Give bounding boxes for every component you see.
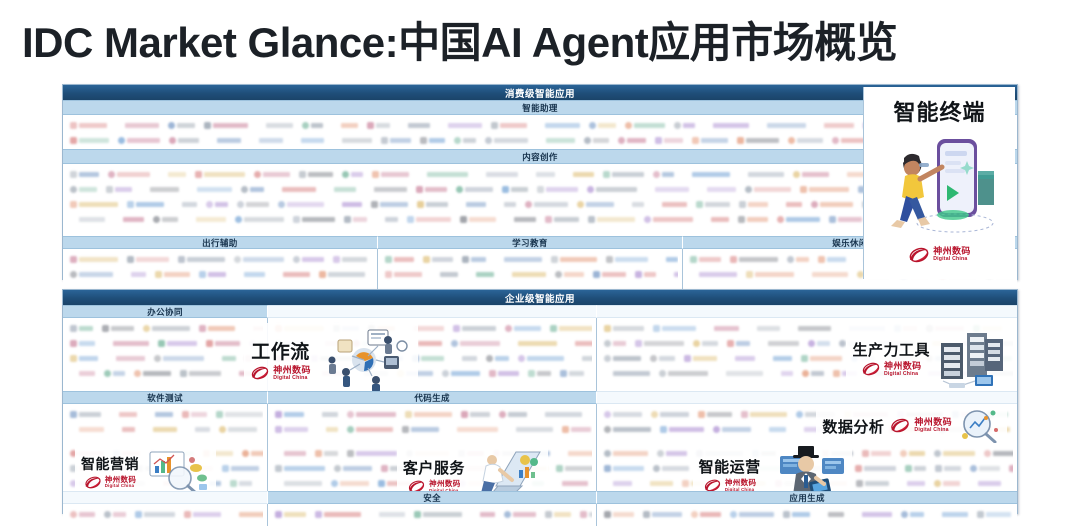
vendor-logo xyxy=(764,355,792,362)
vendor-logo xyxy=(803,271,848,278)
vendor-logo xyxy=(108,171,150,178)
digital-china-swoosh-icon xyxy=(84,476,102,489)
enterprise-section-panel: 企业级智能应用 办公协同 xyxy=(62,289,1018,514)
vendor-logo xyxy=(777,201,802,208)
vendor-logo xyxy=(467,271,494,278)
vendor-logo xyxy=(604,480,632,487)
callout-card-data-analysis[interactable]: 数据分析 神州数码 Digital China xyxy=(816,405,1007,443)
vendor-logo xyxy=(505,325,541,332)
brand-name-cn: 神州数码 xyxy=(273,366,311,375)
brand-name-en: Digital China xyxy=(914,428,952,433)
vendor-logo xyxy=(696,201,730,208)
vendor-logo xyxy=(829,216,862,223)
vendor-logo xyxy=(690,271,737,278)
vendor-logo xyxy=(665,271,678,278)
vendor-logo xyxy=(317,426,338,433)
vendor-logo xyxy=(657,256,678,263)
vendor-logo xyxy=(70,186,97,193)
vendor-logo xyxy=(402,426,439,433)
vendor-logo xyxy=(278,201,324,208)
callout-title-data-analysis: 数据分析 xyxy=(822,416,884,437)
vendor-logo xyxy=(777,216,820,223)
vendor-logo xyxy=(274,271,310,278)
vendor-logo xyxy=(188,186,232,193)
vendor-logo xyxy=(381,137,411,144)
category-label-security: 安全 xyxy=(268,491,597,504)
logo-strip-enterprise-3: 智能营销 神州数码 Digital China xyxy=(63,443,1017,491)
vendor-logo xyxy=(527,171,555,178)
vendor-logo xyxy=(550,325,592,332)
vendor-logo xyxy=(344,216,367,223)
vendor-logo xyxy=(367,122,390,129)
vendor-logo xyxy=(293,256,324,263)
vendor-logo xyxy=(604,355,641,362)
vendor-logo xyxy=(461,411,490,418)
vendor-logo xyxy=(545,511,571,518)
logo-line xyxy=(67,267,373,282)
vendor-logo xyxy=(660,426,704,433)
vendor-logo xyxy=(347,450,397,457)
category-label-travel-assist: 出行辅助 xyxy=(63,236,378,249)
vendor-logo xyxy=(499,411,527,418)
logo-column xyxy=(597,504,1017,526)
digital-china-swoosh-icon xyxy=(703,479,722,491)
vendor-logo xyxy=(414,511,462,518)
vendor-logo xyxy=(70,511,95,518)
vendor-logo xyxy=(730,256,778,263)
vendor-logo xyxy=(644,216,693,223)
woman-with-phone-art xyxy=(875,127,1005,245)
vendor-logo xyxy=(625,122,665,129)
digital-china-swoosh-icon xyxy=(908,247,930,263)
vendor-logo xyxy=(371,201,408,208)
page-title: IDC Market Glance:中国AI Agent应用市场概览 xyxy=(22,18,897,68)
vendor-logo xyxy=(551,256,597,263)
vendor-logo xyxy=(646,186,689,193)
vendor-logo xyxy=(407,216,451,223)
logo-line xyxy=(67,507,263,522)
vendor-logo xyxy=(293,216,335,223)
vendor-logo xyxy=(102,325,134,332)
vendor-logo xyxy=(153,216,178,223)
vendor-logo xyxy=(653,171,674,178)
vendor-logo xyxy=(180,370,221,377)
vendor-logo xyxy=(635,340,684,347)
vendor-logo xyxy=(808,340,830,347)
vendor-logo xyxy=(70,426,104,433)
vendor-logo xyxy=(141,186,179,193)
logo-column xyxy=(63,404,268,443)
vendor-logo xyxy=(333,137,372,144)
vendor-logo xyxy=(788,137,823,144)
logo-line xyxy=(67,336,263,351)
vendor-logo xyxy=(898,480,925,487)
vendor-logo xyxy=(333,256,367,263)
vendor-logo xyxy=(315,511,361,518)
vendor-logo xyxy=(604,411,642,418)
vendor-logo xyxy=(507,426,553,433)
vendor-logo xyxy=(502,186,528,193)
vendor-logo xyxy=(70,325,93,332)
vendor-logo xyxy=(691,511,721,518)
brand-name-cn: 神州数码 xyxy=(429,480,461,488)
vendor-logo xyxy=(315,450,338,457)
vendor-logo xyxy=(659,370,708,377)
callout-title-smart-marketing: 智能营销 xyxy=(81,454,139,474)
vendor-logo xyxy=(643,511,682,518)
vendor-logo xyxy=(746,271,794,278)
vendor-logo xyxy=(104,340,149,347)
callout-card-smart-operations[interactable]: 智能运营 神州数码 Digital China xyxy=(693,443,852,491)
vendor-logo xyxy=(431,271,458,278)
logo-line xyxy=(382,252,678,267)
chart-magnifier-art xyxy=(144,448,210,491)
vendor-logo xyxy=(122,271,146,278)
callout-title-customer-service: 客户服务 xyxy=(403,457,465,478)
digital-china-logo: 神州数码 Digital China xyxy=(407,480,461,491)
vendor-logo xyxy=(70,340,95,347)
digital-china-logo: 神州数码 Digital China xyxy=(703,479,757,491)
vendor-logo xyxy=(154,355,204,362)
callout-title-workflow: 工作流 xyxy=(251,337,310,364)
vendor-logo xyxy=(593,271,626,278)
vendor-logo xyxy=(186,426,210,433)
logo-line xyxy=(272,407,592,422)
vendor-logo xyxy=(905,465,926,472)
vendor-logo xyxy=(106,186,132,193)
logo-line xyxy=(67,407,263,422)
section-header-enterprise: 企业级智能应用 xyxy=(63,290,1017,305)
vendor-logo xyxy=(107,355,145,362)
vendor-logo xyxy=(485,137,528,144)
vendor-logo xyxy=(250,137,283,144)
logo-column xyxy=(63,318,268,391)
vendor-logo xyxy=(562,426,591,433)
callout-card-smart-terminal[interactable]: 智能终端 xyxy=(863,87,1015,279)
vendor-logo xyxy=(969,480,1001,487)
vendor-logo xyxy=(759,340,799,347)
vendor-logo xyxy=(302,122,323,129)
vendor-logo xyxy=(650,355,675,362)
callout-card-smart-marketing[interactable]: 智能营销 神州数码 Digital China xyxy=(75,445,216,491)
brand-name-cn: 神州数码 xyxy=(725,479,757,487)
vendor-logo xyxy=(623,201,644,208)
vendor-logo xyxy=(518,355,564,362)
magnifier-chart-art xyxy=(957,408,1001,443)
vendor-logo xyxy=(385,271,422,278)
vendor-logo xyxy=(453,355,477,362)
vendor-logo xyxy=(674,122,695,129)
vendor-logo xyxy=(204,122,248,129)
logo-line xyxy=(67,351,263,366)
vendor-logo xyxy=(347,426,393,433)
logo-strip-enterprise-1: 工作流 神州数码 Digital China xyxy=(63,318,1017,391)
vendor-logo xyxy=(657,450,687,457)
vendor-logo xyxy=(213,355,236,362)
vendor-logo xyxy=(793,171,829,178)
vendor-logo xyxy=(235,271,265,278)
vendor-logo xyxy=(173,201,197,208)
vendor-logo xyxy=(815,122,854,129)
vendor-logo xyxy=(705,325,739,332)
vendor-logo xyxy=(489,370,519,377)
vendor-logo xyxy=(580,511,592,518)
vendor-logo xyxy=(155,271,190,278)
vendor-logo xyxy=(254,171,290,178)
person-laptop-art xyxy=(470,446,542,491)
vendor-logo xyxy=(206,340,240,347)
vendor-logo xyxy=(727,340,750,347)
vendor-logo xyxy=(222,465,259,472)
digital-china-logo: 神州数码 Digital China xyxy=(908,247,971,263)
logo-line xyxy=(67,422,263,437)
vendor-logo xyxy=(509,340,557,347)
digital-china-swoosh-icon xyxy=(889,418,911,433)
vendor-logo xyxy=(738,216,768,223)
vendor-logo xyxy=(70,370,95,377)
vendor-logo xyxy=(495,201,516,208)
vendor-logo xyxy=(347,411,396,418)
vendor-logo xyxy=(275,450,306,457)
vendor-logo xyxy=(257,122,293,129)
vendor-logo xyxy=(331,480,369,487)
vendor-logo xyxy=(853,511,892,518)
vendor-logo xyxy=(811,201,853,208)
vendor-logo xyxy=(158,340,197,347)
vendor-logo xyxy=(230,480,252,487)
vendor-logo xyxy=(135,511,175,518)
callout-title-smart-operations: 智能运营 xyxy=(699,456,761,477)
category-cell-blank xyxy=(268,305,597,318)
vendor-logo xyxy=(116,122,159,129)
vendor-logo xyxy=(589,122,616,129)
vendor-logo xyxy=(653,325,696,332)
vendor-logo xyxy=(275,411,304,418)
vendor-logo xyxy=(273,186,316,193)
callout-title-smart-terminal: 智能终端 xyxy=(893,95,985,127)
vendor-logo xyxy=(818,256,846,263)
vendor-logo xyxy=(241,186,264,193)
vendor-logo xyxy=(787,256,809,263)
vendor-logo xyxy=(182,411,207,418)
vendor-logo xyxy=(737,137,779,144)
vendor-logo xyxy=(491,122,527,129)
vendor-logo xyxy=(216,411,263,418)
vendor-logo xyxy=(934,480,960,487)
callout-card-customer-service[interactable]: 客户服务 神州数码 Digital China xyxy=(397,443,548,491)
vendor-logo xyxy=(528,370,551,377)
vendor-logo xyxy=(457,201,486,208)
vendor-logo xyxy=(462,256,486,263)
vendor-logo xyxy=(739,201,768,208)
digital-china-logo: 神州数码 Digital China xyxy=(84,476,137,489)
digital-china-swoosh-icon xyxy=(861,362,881,376)
vendor-logo xyxy=(604,426,651,433)
vendor-logo xyxy=(984,450,1013,457)
logo-column xyxy=(63,504,268,526)
category-cell-blank xyxy=(63,491,268,504)
vendor-logo xyxy=(741,411,787,418)
vendor-logo xyxy=(219,426,257,433)
callout-title-productivity-tools: 生产力工具 xyxy=(852,339,930,360)
vendor-logo xyxy=(456,186,493,193)
vendor-logo xyxy=(237,201,269,208)
vendor-logo xyxy=(900,450,925,457)
vendor-logo xyxy=(537,137,575,144)
vendor-logo xyxy=(536,122,580,129)
brand-name-cn: 神州数码 xyxy=(933,247,971,256)
vendor-logo xyxy=(604,340,626,347)
vendor-logo xyxy=(783,511,810,518)
brand-name-en: Digital China xyxy=(273,376,311,381)
vendor-logo xyxy=(537,186,578,193)
vendor-logo xyxy=(134,370,171,377)
vendor-logo xyxy=(503,271,546,278)
vendor-logo xyxy=(505,216,536,223)
vendor-logo xyxy=(726,355,755,362)
brand-name-cn: 神州数码 xyxy=(884,362,922,371)
vendor-logo xyxy=(405,411,452,418)
vendor-logo xyxy=(184,511,221,518)
vendor-logo xyxy=(693,340,718,347)
vendor-logo xyxy=(635,271,656,278)
vendor-logo xyxy=(525,201,568,208)
vendor-logo xyxy=(168,122,195,129)
vendor-logo xyxy=(104,511,126,518)
vendor-logo xyxy=(704,122,749,129)
vendor-logo xyxy=(471,511,495,518)
vendor-logo xyxy=(169,137,199,144)
vendor-logo xyxy=(730,511,774,518)
vendor-logo xyxy=(690,256,721,263)
vendor-logo xyxy=(604,511,634,518)
digital-china-logo: 神州数码 Digital China xyxy=(861,362,922,377)
vendor-logo xyxy=(70,216,105,223)
market-glance-board: 消费级智能应用 智能助理 内容创作 出行辅助 学习教育 娱乐休闲 xyxy=(62,84,1018,514)
category-row-enterprise-1: 办公协同 xyxy=(63,305,1017,318)
vendor-logo xyxy=(545,216,579,223)
brand-name-cn: 神州数码 xyxy=(914,418,952,427)
digital-china-swoosh-icon xyxy=(250,366,270,380)
vendor-logo xyxy=(230,511,263,518)
vendor-logo xyxy=(477,171,518,178)
vendor-logo xyxy=(587,186,637,193)
servers-art xyxy=(935,325,1009,391)
digital-china-swoosh-icon xyxy=(407,480,426,491)
vendor-logo xyxy=(655,137,683,144)
logo-line xyxy=(601,507,1013,522)
vendor-logo xyxy=(862,450,891,457)
category-label-code-generation: 代码生成 xyxy=(268,391,597,404)
vendor-logo xyxy=(208,137,241,144)
vendor-logo xyxy=(745,186,791,193)
vendor-logo xyxy=(372,171,409,178)
vendor-logo xyxy=(313,411,338,418)
vendor-logo xyxy=(199,271,226,278)
vendor-logo xyxy=(603,171,644,178)
vendor-logo xyxy=(758,122,806,129)
vendor-logo xyxy=(856,480,889,487)
vendor-logo xyxy=(553,480,588,487)
workflow-network-art xyxy=(316,326,412,391)
vendor-logo xyxy=(275,480,322,487)
vendor-logo xyxy=(275,465,325,472)
vendor-logo xyxy=(653,465,689,472)
callout-card-productivity-tools[interactable]: 生产力工具 神州数码 Digital China xyxy=(846,322,1015,391)
vendor-logo xyxy=(451,340,500,347)
vendor-logo xyxy=(423,256,453,263)
vendor-logo xyxy=(970,465,1000,472)
vendor-logo xyxy=(651,411,689,418)
vendor-logo xyxy=(819,511,844,518)
vendor-logo xyxy=(772,370,793,377)
vendor-logo xyxy=(292,137,324,144)
vendor-logo xyxy=(70,271,113,278)
vendor-logo xyxy=(146,411,173,418)
vendor-logo xyxy=(855,465,896,472)
vendor-logo xyxy=(1009,465,1013,472)
logo-line xyxy=(382,267,678,282)
vendor-logo xyxy=(70,355,98,362)
vendor-logo xyxy=(195,171,245,178)
vendor-logo xyxy=(495,256,542,263)
vendor-logo xyxy=(933,511,968,518)
vendor-logo xyxy=(319,271,365,278)
vendor-logo xyxy=(802,370,824,377)
vendor-logo xyxy=(235,216,284,223)
logo-column xyxy=(268,404,597,443)
vendor-logo xyxy=(376,216,398,223)
vendor-logo xyxy=(683,171,730,178)
vendor-logo xyxy=(717,370,763,377)
vendor-logo xyxy=(187,216,226,223)
vendor-logo xyxy=(143,325,190,332)
vendor-logo xyxy=(299,171,333,178)
category-label-learning-education: 学习教育 xyxy=(378,236,683,249)
vendor-logo xyxy=(234,256,284,263)
logo-line xyxy=(67,366,263,381)
vendor-logo xyxy=(70,411,101,418)
vendor-logo xyxy=(536,411,582,418)
vendor-logo xyxy=(604,325,644,332)
vendor-logo xyxy=(416,186,447,193)
logo-column xyxy=(63,249,378,293)
vendor-logo xyxy=(789,325,831,332)
brand-name-en: Digital China xyxy=(884,372,922,377)
callout-card-workflow[interactable]: 工作流 神州数码 Digital China xyxy=(244,323,418,391)
vendor-logo xyxy=(934,450,975,457)
brand-name-en: Digital China xyxy=(105,484,137,488)
logo-line xyxy=(272,507,592,522)
vendor-logo xyxy=(573,355,592,362)
logo-strip-enterprise-bottom xyxy=(63,504,1017,526)
vendor-logo xyxy=(448,426,498,433)
businessman-tablet-art xyxy=(766,444,846,491)
vendor-logo xyxy=(606,256,648,263)
vendor-logo xyxy=(702,216,729,223)
vendor-logo xyxy=(118,137,160,144)
vendor-logo xyxy=(385,256,414,263)
digital-china-logo: 神州数码 Digital China xyxy=(889,418,952,433)
vendor-logo xyxy=(800,186,849,193)
vendor-logo xyxy=(144,426,177,433)
vendor-logo xyxy=(760,426,786,433)
vendor-logo xyxy=(453,325,496,332)
brand-name-cn: 神州数码 xyxy=(105,476,137,484)
vendor-logo xyxy=(504,511,536,518)
vendor-logo xyxy=(555,271,584,278)
vendor-logo xyxy=(242,450,263,457)
